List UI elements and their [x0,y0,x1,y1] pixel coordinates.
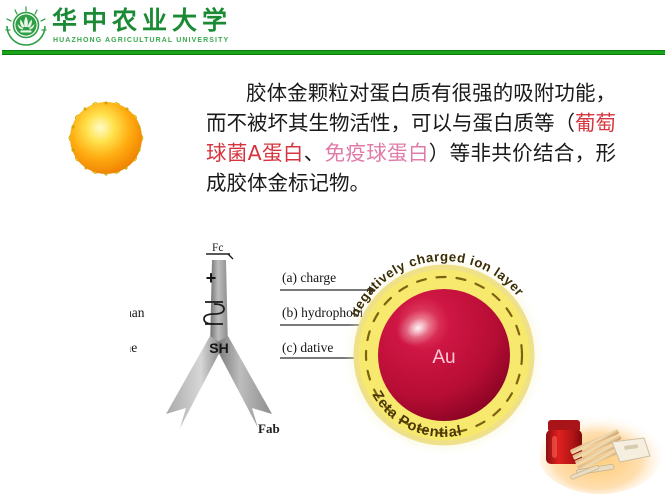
fc-label-group: Fc [206,242,233,259]
paragraph-highlight-pink: 免疫球蛋白 [325,141,429,165]
university-name-en: HUAZHONG AGRICULTURAL UNIVERSITY [53,37,229,44]
antibody-gold-binding-diagram: Fc Fab 赖氨酸 Lysine + 色氨酸 Tryptophan 半胱氨酸 … [130,232,560,462]
binding-diagram-svg: Fc Fab 赖氨酸 Lysine + 色氨酸 Tryptophan 半胱氨酸 … [130,232,560,462]
interaction-a-label: (a) charge [282,270,336,285]
paragraph-part-2: 、 [304,141,325,165]
paragraph-part-1: 胶体金颗粒对蛋白质有很强的吸附功能，而不被坏其生物活性，可以与蛋白质等（ [206,81,616,135]
gold-particle-zeta-diagram: Au negatively charged ion layer Zeta Pot… [344,249,544,455]
gold-test-kit-photo [540,392,664,496]
university-name-cn: 华中农业大学 [52,7,232,35]
university-logo-icon: 1898 [4,6,48,48]
residue-symbol-charge: + [206,268,217,288]
colloidal-gold-antibody-illustration: Y [18,72,194,204]
slide-root: 1898 华中农业大学 HUAZHONG AGRICULTURAL UNIVER… [0,0,667,500]
interaction-c-label: (c) dative [282,340,333,355]
residue-en-cysteine: Cysteine [130,340,137,355]
au-core-label: Au [432,347,455,368]
fc-label: Fc [212,242,224,254]
page-body-paragraph: 胶体金颗粒对蛋白质有很强的吸附功能，而不被坏其生物活性，可以与蛋白质等（葡萄球菌… [206,78,616,198]
slide-header: 1898 华中农业大学 HUAZHONG AGRICULTURAL UNIVER… [0,0,667,54]
header-divider [2,50,665,55]
residue-en-tryptophan: Tryptophan [130,305,145,320]
residue-symbol-sh: SH [209,340,228,356]
fab-label: Fab [258,421,280,436]
svg-text:1898: 1898 [22,27,30,31]
gold-core-sphere [70,102,142,174]
